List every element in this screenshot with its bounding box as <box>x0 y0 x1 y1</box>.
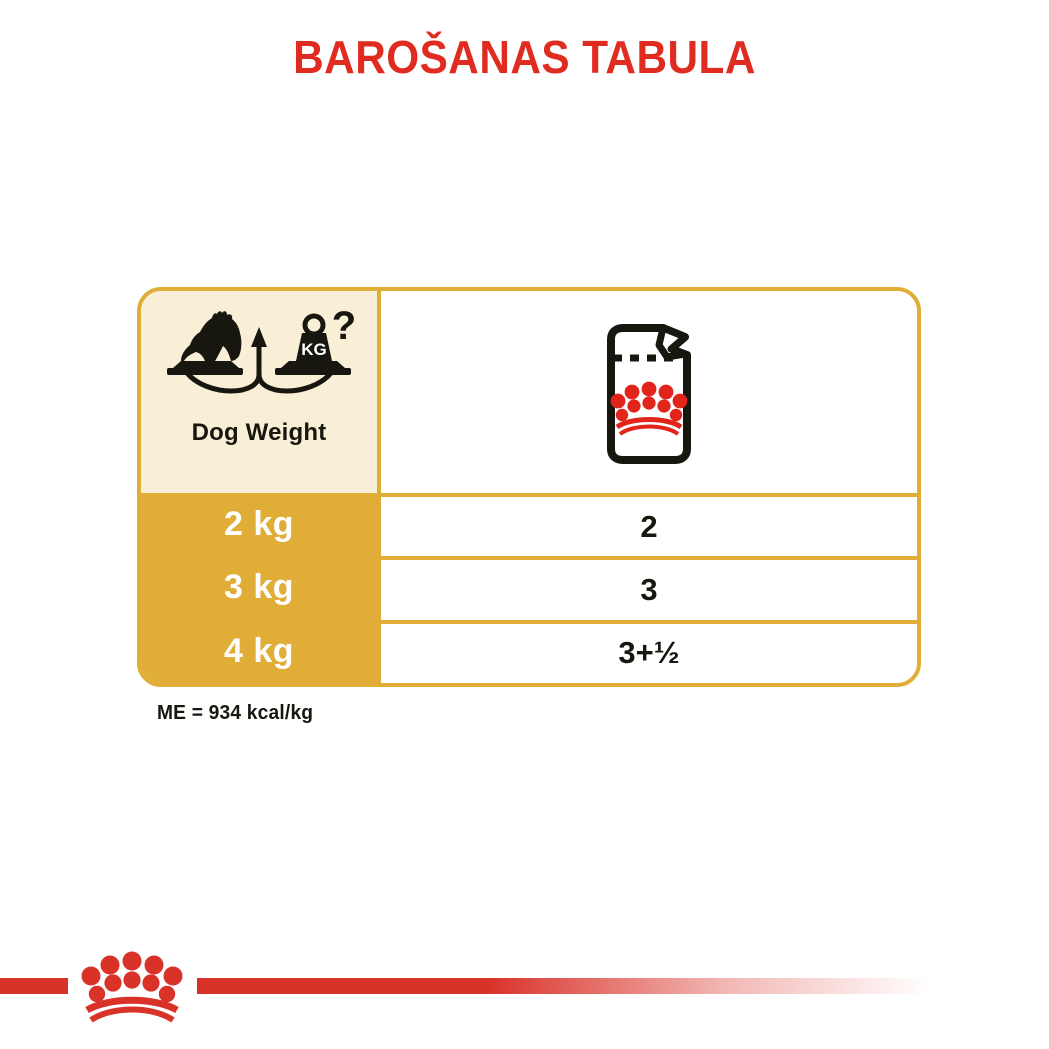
feeding-table-page: BAROŠANAS TABULA <box>0 0 1049 1049</box>
table-cell-dose: 2 <box>377 493 917 556</box>
dog-weight-label: Dog Weight <box>192 419 327 447</box>
table-header-cell-dog-weight: KG ? Dog Weight <box>141 291 377 493</box>
footer-rule-right <box>197 978 1049 994</box>
wet-food-pouch-icon <box>589 317 709 467</box>
footer-rule-left <box>0 978 68 994</box>
page-title: BAROŠANAS TABULA <box>42 30 1007 84</box>
table-cell-weight: 3 kg <box>141 556 377 619</box>
table-header-cell-pouch <box>377 291 917 493</box>
brand-footer <box>0 930 1049 1049</box>
royal-canin-crown-logo <box>68 944 196 1030</box>
table-cell-dose: 3+½ <box>377 620 917 683</box>
table-row: 2 kg 2 <box>141 493 917 556</box>
table-row: 4 kg 3+½ <box>141 620 917 683</box>
kg-weight-label: KG <box>301 340 327 359</box>
question-mark-icon: ? <box>332 309 356 348</box>
balance-scale-dog-weight-icon: KG ? <box>159 309 359 401</box>
feeding-table: KG ? Dog Weight <box>137 287 921 687</box>
feeding-table-body: KG ? Dog Weight <box>141 291 917 683</box>
table-row: 3 kg 3 <box>141 556 917 619</box>
metabolisable-energy-note: ME = 934 kcal/kg <box>157 702 313 725</box>
table-cell-weight: 4 kg <box>141 620 377 683</box>
royal-canin-crown-logo-icon <box>68 944 196 1030</box>
table-cell-dose: 3 <box>377 556 917 619</box>
table-cell-weight: 2 kg <box>141 493 377 556</box>
table-header-row: KG ? Dog Weight <box>141 291 917 493</box>
